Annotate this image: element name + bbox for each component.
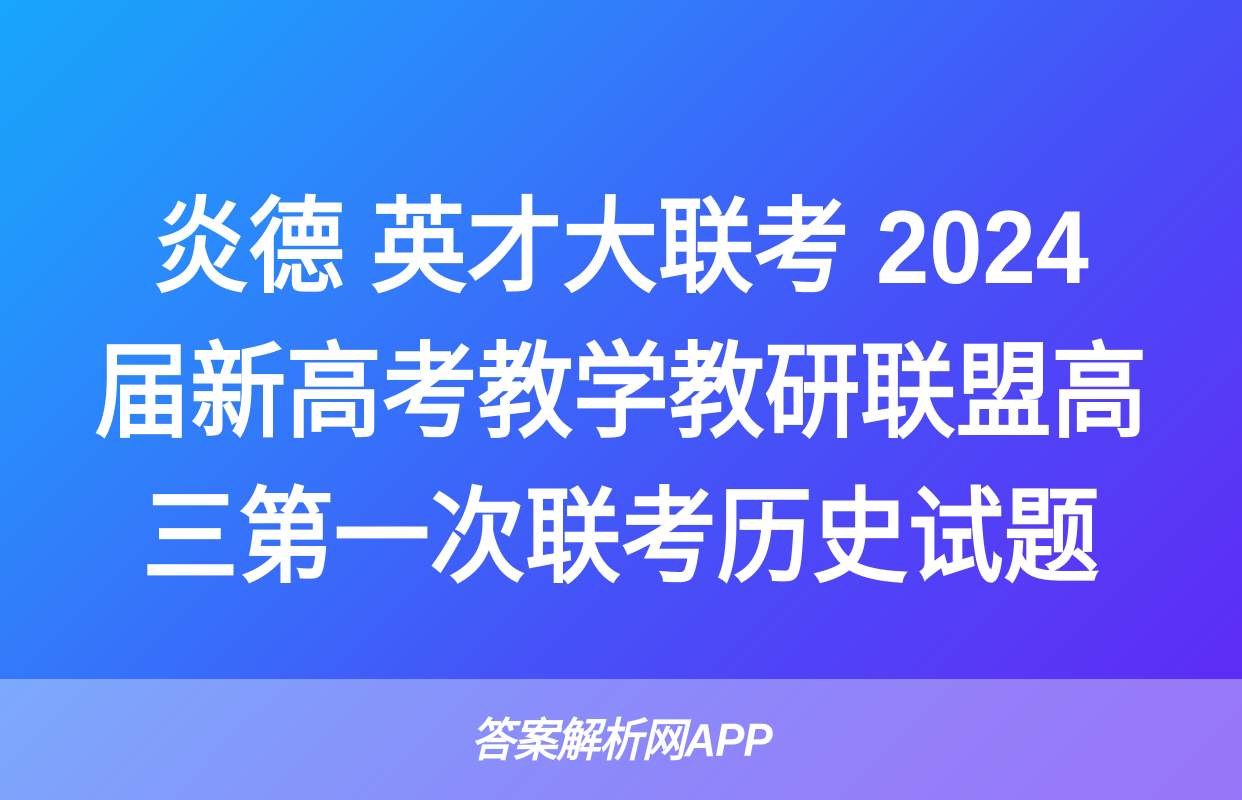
exam-cover-banner: 炎德 英才大联考 2024 届新高考教学教研联盟高 三第一次联考历史试题 答案解… (0, 0, 1242, 800)
watermark-band: 答案解析网APP (0, 679, 1242, 800)
title-line-2: 届新高考教学教研联盟高 (50, 321, 1193, 466)
title-line-3: 三第一次联考历史试题 (50, 466, 1193, 611)
page-title: 炎德 英才大联考 2024 届新高考教学教研联盟高 三第一次联考历史试题 (0, 176, 1242, 611)
title-line-1: 炎德 英才大联考 2024 (50, 176, 1193, 321)
watermark-label: 答案解析网APP (471, 717, 772, 763)
